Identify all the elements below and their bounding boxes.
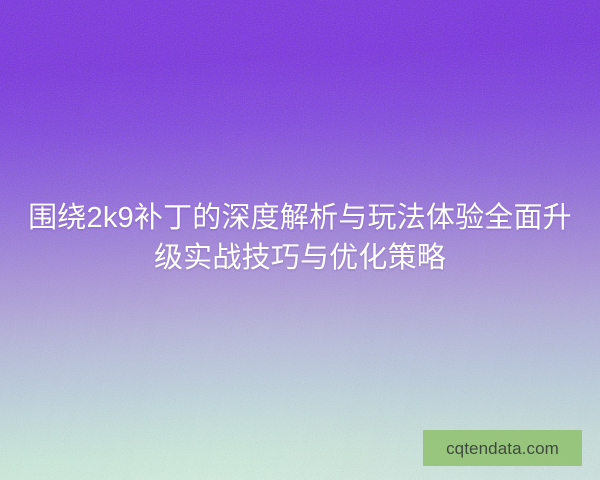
page-title: 围绕2k9补丁的深度解析与玩法体验全面升级实战技巧与优化策略 [0,198,600,278]
watermark-text: cqtendata.com [446,440,559,457]
watermark-badge: cqtendata.com [423,430,582,466]
cover-banner: 围绕2k9补丁的深度解析与玩法体验全面升级实战技巧与优化策略 cqtendata… [0,0,600,480]
